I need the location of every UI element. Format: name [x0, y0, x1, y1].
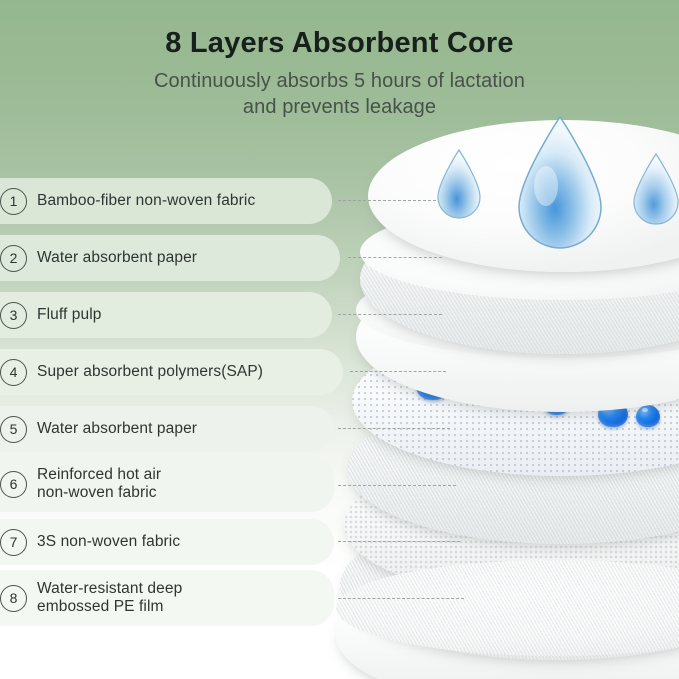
layer-number-2: 2: [0, 245, 27, 272]
layer-number-4: 4: [0, 359, 27, 386]
layer-label-7[interactable]: 7 3S non-woven fabric: [0, 519, 334, 565]
layer-text-2: Water absorbent paper: [37, 249, 197, 267]
layer-label-6[interactable]: 6 Reinforced hot air non-woven fabric: [0, 456, 334, 512]
layer-text-5: Water absorbent paper: [37, 420, 197, 438]
leader-line-4: [350, 371, 446, 372]
leader-line-5: [338, 428, 450, 429]
layer-label-1[interactable]: 1 Bamboo-fiber non-woven fabric: [0, 178, 332, 224]
layer-number-7: 7: [0, 529, 27, 556]
product-infographic: 8 Layers Absorbent Core Continuously abs…: [0, 0, 679, 679]
leader-line-7: [338, 541, 460, 542]
leader-line-2: [348, 257, 442, 258]
leader-line-3: [338, 314, 442, 315]
droplet-small-left-icon: [434, 148, 484, 222]
layer-text-7: 3S non-woven fabric: [37, 533, 180, 551]
layer-label-2[interactable]: 2 Water absorbent paper: [0, 235, 340, 281]
droplet-large-icon: [512, 114, 608, 256]
layer-label-5[interactable]: 5 Water absorbent paper: [0, 406, 334, 452]
leader-line-8: [338, 598, 464, 599]
subtitle-line-1: Continuously absorbs 5 hours of lactatio…: [0, 68, 679, 94]
sap-gel-bead: [636, 405, 660, 427]
page-title: 8 Layers Absorbent Core: [0, 27, 679, 60]
layer-number-1: 1: [0, 188, 27, 215]
layer-label-4[interactable]: 4 Super absorbent polymers(SAP): [0, 349, 343, 395]
layer-label-3[interactable]: 3 Fluff pulp: [0, 292, 332, 338]
layer-label-8[interactable]: 8 Water-resistant deep embossed PE film: [0, 570, 334, 626]
page-subtitle: Continuously absorbs 5 hours of lactatio…: [0, 68, 679, 120]
layer-text-1: Bamboo-fiber non-woven fabric: [37, 192, 255, 210]
layer-number-6: 6: [0, 471, 27, 498]
layer-text-6: Reinforced hot air non-woven fabric: [37, 466, 161, 502]
droplet-small-right-icon: [630, 152, 679, 228]
layer-text-3: Fluff pulp: [37, 306, 101, 324]
layer-number-8: 8: [0, 585, 27, 612]
absorbent-core-stack: [330, 112, 679, 672]
layer-number-5: 5: [0, 416, 27, 443]
layer-number-3: 3: [0, 302, 27, 329]
leader-line-1: [338, 200, 436, 201]
layer-text-4: Super absorbent polymers(SAP): [37, 363, 263, 381]
subtitle-line-2: and prevents leakage: [0, 94, 679, 120]
leader-line-6: [338, 485, 456, 486]
layer-text-8: Water-resistant deep embossed PE film: [37, 580, 182, 616]
